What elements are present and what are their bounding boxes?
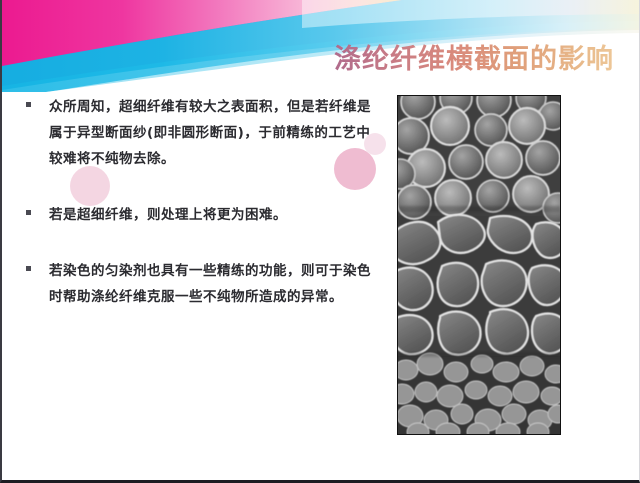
list-item: 众所周知，超细纤维有较大之表面积，但是若纤维是属于异型断面纱(即非圆形断面)，于… [26,94,378,172]
list-item: 若是超细纤维，则处理上将更为困难。 [26,202,378,228]
list-item: 若染色的匀染剂也具有一些精练的功能，则可于染色时帮助涤纶纤维克服一些不纯物所造成… [26,258,378,310]
bullet-list: 众所周知，超细纤维有较大之表面积，但是若纤维是属于异型断面纱(即非圆形断面)，于… [26,94,378,336]
bullet-text: 若是超细纤维，则处理上将更为困难。 [49,202,378,228]
presentation-slide: 涤纶纤维横截面的影响 众所周知，超细纤维有较大之表面积，但是若纤维是属于异型断面… [0,0,640,483]
micrograph-graphic [398,96,560,434]
page-title: 涤纶纤维横截面的影响 [334,38,634,80]
square-bullet-icon [26,266,31,271]
bullet-text: 众所周知，超细纤维有较大之表面积，但是若纤维是属于异型断面纱(即非圆形断面)，于… [49,94,378,172]
square-bullet-icon [26,102,31,107]
bullet-text: 若染色的匀染剂也具有一些精练的功能，则可于染色时帮助涤纶纤维克服一些不纯物所造成… [49,258,378,310]
sem-fiber-cross-section-image [398,96,560,434]
square-bullet-icon [26,210,31,215]
